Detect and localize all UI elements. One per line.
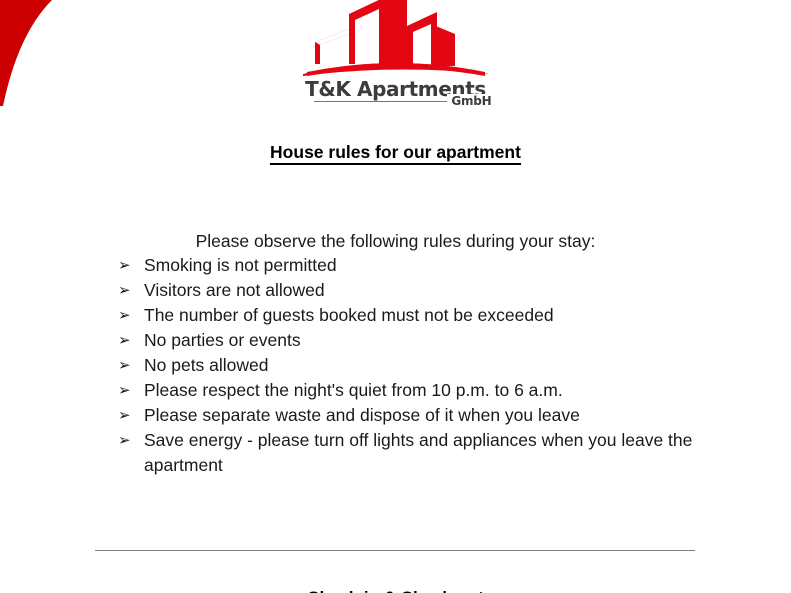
rule-item-label: No parties or events xyxy=(144,330,301,350)
company-suffix: GmbH xyxy=(447,94,491,108)
arrow-bullet-icon: ➢ xyxy=(118,378,131,403)
rule-item-label: Please respect the night's quiet from 10… xyxy=(144,380,563,400)
section-divider xyxy=(95,550,695,551)
rule-item-label: Please separate waste and dispose of it … xyxy=(144,405,580,425)
rule-item-label: Visitors are not allowed xyxy=(144,280,325,300)
arrow-bullet-icon: ➢ xyxy=(118,278,131,303)
arrow-bullet-icon: ➢ xyxy=(118,403,131,428)
building-skyline-icon xyxy=(303,0,489,80)
rule-item: ➢Please separate waste and dispose of it… xyxy=(118,403,738,428)
rule-item-label: The number of guests booked must not be … xyxy=(144,305,554,325)
rule-item-label: Save energy - please turn off lights and… xyxy=(144,430,692,475)
rules-list: ➢Smoking is not permitted➢Visitors are n… xyxy=(118,253,738,478)
wordmark-rule xyxy=(314,101,466,102)
arrow-bullet-icon: ➢ xyxy=(118,253,131,278)
document-page: T&K Apartments GmbH House rules for our … xyxy=(0,0,791,593)
company-logo: T&K Apartments GmbH xyxy=(0,0,791,111)
arrow-bullet-icon: ➢ xyxy=(118,353,131,378)
page-title-text: House rules for our apartment xyxy=(270,142,521,165)
rule-item-label: No pets allowed xyxy=(144,355,269,375)
rule-item-label: Smoking is not permitted xyxy=(144,255,337,275)
rule-item: ➢The number of guests booked must not be… xyxy=(118,303,738,328)
rule-item: ➢No pets allowed xyxy=(118,353,738,378)
rule-item: ➢Visitors are not allowed xyxy=(118,278,738,303)
check-in-check-out-heading: Check-in & Check-out xyxy=(0,588,791,593)
arrow-bullet-icon: ➢ xyxy=(118,303,131,328)
intro-text: Please observe the following rules durin… xyxy=(0,231,791,252)
rule-item: ➢Smoking is not permitted xyxy=(118,253,738,278)
arrow-bullet-icon: ➢ xyxy=(118,428,131,453)
rule-item: ➢No parties or events xyxy=(118,328,738,353)
arrow-bullet-icon: ➢ xyxy=(118,328,131,353)
rule-item: ➢Please respect the night's quiet from 1… xyxy=(118,378,738,403)
company-wordmark: T&K Apartments GmbH xyxy=(298,77,494,111)
rule-item: ➢Save energy - please turn off lights an… xyxy=(118,428,738,478)
page-title: House rules for our apartment xyxy=(0,142,791,163)
